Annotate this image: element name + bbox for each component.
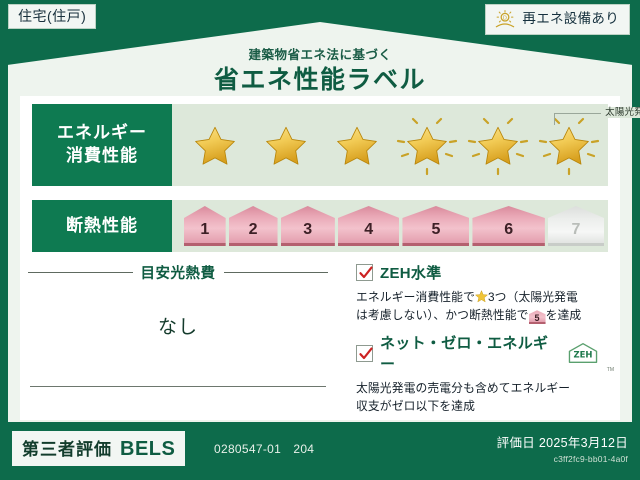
svg-text:D: D <box>503 16 507 22</box>
zeh-standard-title: ZEH水準 <box>380 262 442 283</box>
zeh-standard-item: ZEH水準 エネルギー消費性能で3つ（太陽光発電 は考慮しない）、かつ断熱性能で… <box>356 262 614 325</box>
zeh-standard-title-row: ZEH水準 <box>356 262 614 283</box>
net-zero-checkbox[interactable] <box>356 345 373 362</box>
insulation-badge: 6 <box>472 206 544 246</box>
label-title: 省エネ性能ラベル <box>0 60 640 96</box>
energy-cost-value: なし <box>28 312 328 339</box>
bels-id-number: 0280547-01 204 <box>214 440 314 457</box>
insulation-badge-scale: 1234567 <box>178 200 604 252</box>
cost-rule-left <box>28 272 133 273</box>
energy-star <box>394 114 460 176</box>
inline-star-icon <box>475 290 488 303</box>
renewable-equipment-label: 再エネ設備あり <box>522 12 619 26</box>
energy-star-rating <box>180 104 604 186</box>
net-zero-description: 太陽光発電の売電分も含めてエネルギー 収支がゼロ以下を達成 <box>356 379 614 416</box>
evaluation-date: 評価日 2025年3月12日 <box>497 432 628 451</box>
energy-star <box>465 114 531 176</box>
insulation-badge: 7 <box>548 206 604 246</box>
energy-label-line2: 消費性能 <box>66 145 138 168</box>
zeh-desc-part-c: を達成 <box>546 308 582 322</box>
star-icon <box>189 122 241 172</box>
energy-performance-label: エネルギー 消費性能 <box>32 104 172 186</box>
net-zero-title-row: ネット・ゼロ・エネルギー ZEH TM <box>356 332 614 374</box>
zeh-desc-part-a: エネルギー消費性能で <box>356 290 475 304</box>
bels-jp-label: 第三者評価 <box>22 435 112 460</box>
star-icon <box>260 122 312 172</box>
insulation-badge: 3 <box>281 206 335 246</box>
zeh-desc-star-count: 3つ（太陽光発電 <box>488 290 578 304</box>
insulation-badge: 1 <box>184 206 226 246</box>
energy-performance-row: エネルギー 消費性能 太陽光発電(自家消費)分 <box>32 104 608 186</box>
insulation-badge: 2 <box>229 206 278 246</box>
zeh-house-logo-icon: ZEH <box>566 342 600 364</box>
check-icon <box>358 265 374 281</box>
svg-text:ZEH: ZEH <box>573 350 592 360</box>
insulation-label-text: 断熱性能 <box>66 215 138 238</box>
star-icon <box>331 122 383 172</box>
solar-ray-icon <box>465 114 531 176</box>
zeh-desc-part-b: は考慮しない）、かつ断熱性能で <box>356 308 529 322</box>
renewable-equipment-badge: D 再エネ設備あり <box>485 4 630 35</box>
net-zero-desc-b: 収支がゼロ以下を達成 <box>356 399 475 413</box>
energy-performance-value: 太陽光発電(自家消費)分 <box>172 104 608 186</box>
zeh-logo-trademark: TM <box>607 367 614 373</box>
cost-rule-right <box>224 272 329 273</box>
solar-ray-icon <box>394 114 460 176</box>
house-type-tag: 住宅(住戸) <box>8 4 96 29</box>
cost-bottom-divider <box>30 386 326 387</box>
energy-cost-heading: 目安光熱費 <box>28 262 328 283</box>
insulation-performance-row: 断熱性能 1234567 <box>32 200 608 252</box>
energy-star <box>324 114 390 176</box>
inline-insulation-badge: 5 <box>529 310 546 324</box>
sun-icon: D <box>494 9 516 29</box>
house-type-label: 住宅(住戸) <box>18 8 86 24</box>
net-zero-energy-item: ネット・ゼロ・エネルギー ZEH TM 太陽光発電の売電分も含めてエネルギー 収… <box>356 332 614 416</box>
net-zero-title: ネット・ゼロ・エネルギー <box>380 332 559 374</box>
zeh-standard-checkbox[interactable] <box>356 264 373 281</box>
solar-caption: 太陽光発電(自家消費)分 <box>544 104 640 118</box>
energy-label-line1: エネルギー <box>57 122 147 145</box>
net-zero-desc-a: 太陽光発電の売電分も含めてエネルギー <box>356 381 570 395</box>
evaluation-hash: c3ff2fc9-bb01-4a0f <box>554 454 628 464</box>
energy-star <box>253 114 319 176</box>
insulation-performance-label: 断熱性能 <box>32 200 172 252</box>
check-icon <box>358 346 374 362</box>
zeh-standard-description: エネルギー消費性能で3つ（太陽光発電 は考慮しない）、かつ断熱性能で5を達成 <box>356 288 614 325</box>
insulation-badge: 5 <box>402 206 469 246</box>
insulation-badge: 4 <box>338 206 400 246</box>
label-canvas: 住宅(住戸) D 再エネ設備あり 建築物省エネ法に基づく 省エネ性能ラベル エネ… <box>0 0 640 480</box>
bels-evaluation-tag: 第三者評価 BELS <box>12 431 185 466</box>
cost-heading-text: 目安光熱費 <box>141 262 216 283</box>
insulation-performance-value: 1234567 <box>172 200 608 252</box>
bels-en-label: BELS <box>120 438 175 461</box>
solar-caption-text: 太陽光発電(自家消費)分 <box>601 107 640 118</box>
energy-star <box>182 114 248 176</box>
